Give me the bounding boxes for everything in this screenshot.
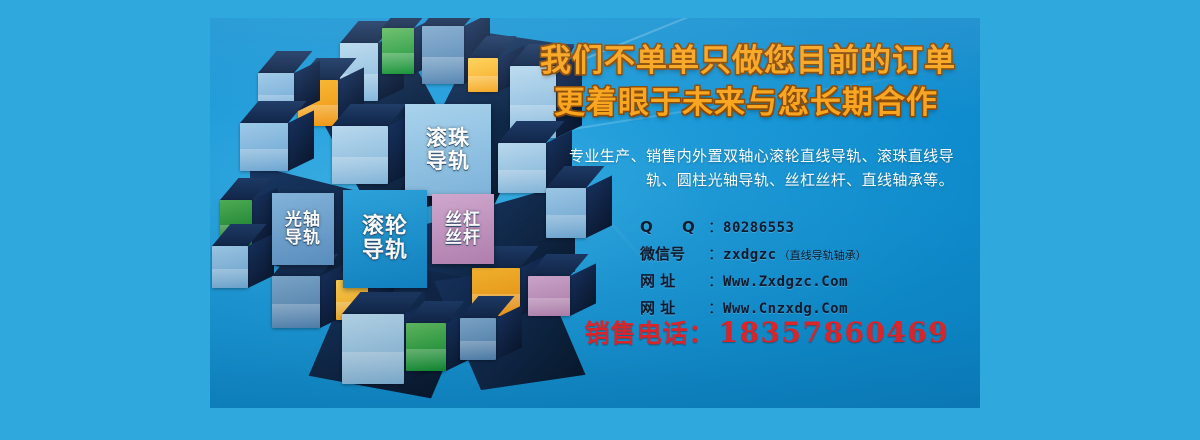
banner-content: 我们不单单只做您目前的订单 更着眼于未来与您长期合作 专业生产、销售内外置双轴心…: [540, 18, 980, 408]
sales-phone-number[interactable]: 18357860469: [719, 316, 950, 349]
decorative-cube: [382, 28, 414, 74]
product-tile-line2: 导轨: [426, 150, 470, 173]
decorative-cube: [342, 314, 404, 384]
decorative-cube: [406, 323, 446, 371]
product-tile-guangzhou-daogui[interactable]: 光轴 导轨: [272, 193, 334, 265]
contact-separator: ：: [708, 243, 723, 266]
decorative-cube: [332, 126, 388, 184]
product-tile-gunzhu-daogui[interactable]: 滚珠 导轨: [405, 104, 491, 196]
decorative-cube: [212, 246, 248, 288]
decorative-cube: [240, 123, 288, 171]
contact-value-wechat[interactable]: zxdgzc: [723, 245, 777, 266]
contact-row-wechat: 微信号 ： zxdgzc （直线导轨轴承）: [640, 243, 970, 266]
contact-row-website-1: 网 址 ： Www.Zxdgzc.Com: [640, 270, 970, 293]
decorative-cube: [272, 276, 320, 328]
contact-value-qq[interactable]: 80286553: [723, 218, 794, 239]
headline-line-1: 我们不单单只做您目前的订单: [540, 40, 980, 82]
decorative-cube: [498, 143, 546, 193]
decorative-cube: [422, 26, 464, 84]
product-tile-line1: 滚轮: [362, 215, 408, 239]
contact-label: 微信号: [640, 243, 708, 266]
product-tile-line2: 导轨: [285, 229, 321, 247]
sales-phone[interactable]: 销售电话： 18357860469: [552, 314, 980, 350]
contact-label: Q Q: [640, 216, 708, 239]
product-tile-gunlun-daogui[interactable]: 滚轮 导轨: [343, 190, 427, 288]
sales-phone-label: 销售电话：: [585, 314, 715, 350]
headline-line-2: 更着眼于未来与您长期合作: [554, 82, 980, 124]
decorative-cube: [468, 58, 498, 92]
product-tile-line2: 导轨: [362, 239, 408, 263]
product-tile-sigang-sigan[interactable]: 丝杠 丝杆: [432, 194, 494, 264]
contact-separator: ：: [708, 216, 723, 239]
contact-value-website-1[interactable]: Www.Zxdgzc.Com: [723, 272, 848, 293]
promo-banner: 滚珠 导轨 光轴 导轨 滚轮 导轨: [210, 18, 980, 408]
company-description: 专业生产、销售内外置双轴心滚轮直线导轨、滚珠直线导轨、圆柱光轴导轨、丝杠丝杆、直…: [542, 144, 954, 193]
contact-label: 网 址: [640, 270, 708, 293]
headline: 我们不单单只做您目前的订单 更着眼于未来与您长期合作: [540, 40, 980, 124]
product-tile-line1: 光轴: [285, 211, 321, 229]
contact-block: Q Q ： 80286553 微信号 ： zxdgzc （直线导轨轴承） 网 址…: [640, 216, 970, 324]
contact-row-qq: Q Q ： 80286553: [640, 216, 970, 239]
product-tile-line2: 丝杆: [445, 229, 481, 247]
decorative-cube: [460, 318, 496, 360]
product-tile-line1: 丝杠: [445, 211, 481, 229]
contact-separator: ：: [708, 270, 723, 293]
product-tile-line1: 滚珠: [426, 127, 470, 150]
contact-note-wechat: （直线导轨轴承）: [779, 248, 867, 265]
banner-stage: 滚珠 导轨 光轴 导轨 滚轮 导轨: [0, 0, 1200, 440]
